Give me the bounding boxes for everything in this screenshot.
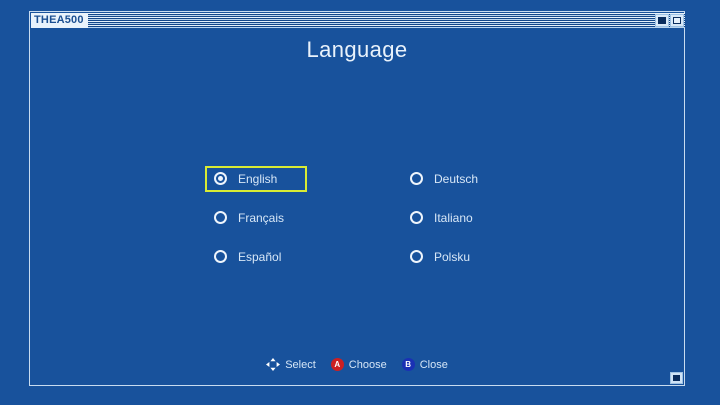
option-label-espanol: Español — [238, 250, 281, 264]
radio-icon-espanol — [214, 250, 227, 263]
resize-gadget-icon[interactable] — [670, 372, 683, 384]
option-label-italiano: Italiano — [434, 211, 473, 225]
zoom-gadget-glyph — [673, 17, 681, 24]
radio-icon-deutsch — [410, 172, 423, 185]
zoom-gadget-icon[interactable] — [670, 14, 684, 27]
hint-label-close: Close — [420, 359, 448, 371]
status-hint-bar: Select A Choose B Close — [30, 358, 684, 371]
b-button-icon: B — [402, 358, 415, 371]
language-options-group: English Deutsch Français Italiano Españo… — [205, 159, 525, 276]
hint-select: Select — [266, 358, 316, 371]
option-label-english: English — [238, 172, 277, 186]
option-label-polsku: Polsku — [434, 250, 470, 264]
application-window: THEA500 Language English Deutsch — [29, 11, 685, 386]
depth-gadget-icon[interactable] — [655, 14, 669, 27]
hint-close: B Close — [402, 358, 448, 371]
window-title: THEA500 — [31, 13, 88, 28]
radio-icon-polsku — [410, 250, 423, 263]
dpad-icon — [266, 358, 280, 371]
option-label-deutsch: Deutsch — [434, 172, 478, 186]
window-titlebar[interactable]: THEA500 — [31, 13, 685, 28]
option-english[interactable]: English — [205, 166, 307, 192]
option-label-francais: Français — [238, 211, 284, 225]
hint-choose: A Choose — [331, 358, 387, 371]
a-button-icon: A — [331, 358, 344, 371]
radio-icon-english — [214, 172, 227, 185]
page-title: Language — [30, 37, 684, 63]
titlebar-stripes — [88, 13, 654, 28]
option-francais[interactable]: Français — [205, 205, 307, 231]
option-espanol[interactable]: Español — [205, 244, 307, 270]
titlebar-gadgets — [654, 13, 685, 28]
depth-gadget-glyph — [658, 17, 666, 24]
radio-icon-francais — [214, 211, 227, 224]
option-polsku[interactable]: Polsku — [401, 244, 503, 270]
desktop-background: THEA500 Language English Deutsch — [0, 0, 720, 405]
option-italiano[interactable]: Italiano — [401, 205, 503, 231]
hint-label-select: Select — [285, 359, 316, 371]
option-deutsch[interactable]: Deutsch — [401, 166, 503, 192]
hint-label-choose: Choose — [349, 359, 387, 371]
radio-icon-italiano — [410, 211, 423, 224]
